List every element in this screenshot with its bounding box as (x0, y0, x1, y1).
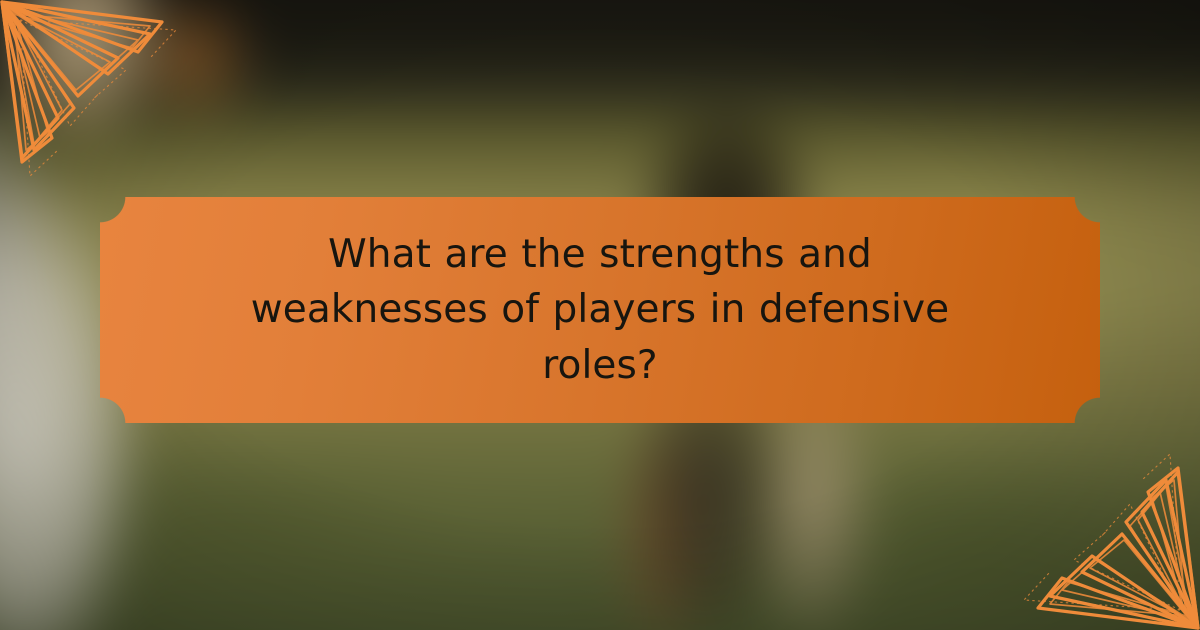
question-card: What are the strengths and weaknesses of… (100, 197, 1100, 423)
question-text: What are the strengths and weaknesses of… (160, 227, 1040, 393)
social-card-canvas: What are the strengths and weaknesses of… (0, 0, 1200, 630)
